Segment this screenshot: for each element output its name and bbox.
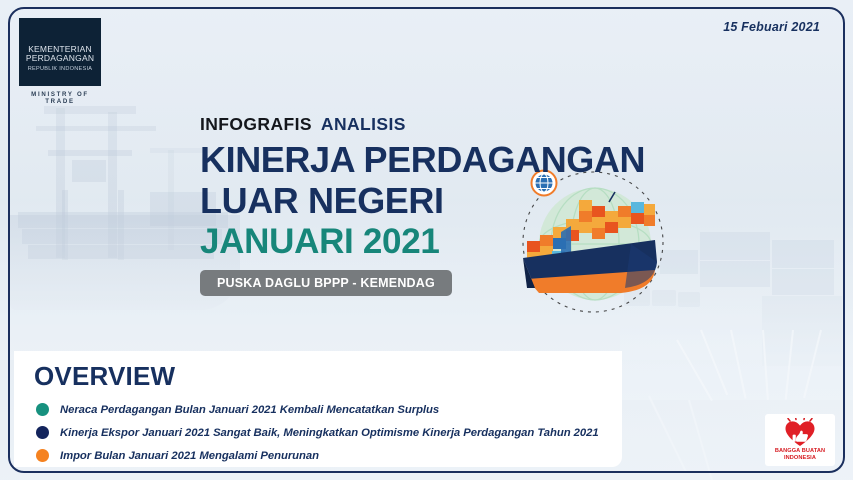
bbi-line-1: BANGGA BUATAN bbox=[775, 448, 825, 455]
overview-item-2-text: Kinerja Ekspor Januari 2021 Sangat Baik,… bbox=[60, 427, 599, 439]
overview-item-1-text: Neraca Perdagangan Bulan Januari 2021 Ke… bbox=[60, 404, 439, 416]
bullet-dot-orange bbox=[36, 449, 49, 462]
title-kicker-analisis: ANALISIS bbox=[321, 114, 406, 134]
publication-date: 15 Febuari 2021 bbox=[723, 20, 820, 34]
bangga-buatan-indonesia-badge: BANGGA BUATAN INDONESIA bbox=[765, 414, 835, 466]
title-line-2: LUAR NEGERI bbox=[200, 180, 645, 221]
overview-panel: OVERVIEW Neraca Perdagangan Bulan Januar… bbox=[14, 351, 622, 467]
title-kicker-infografis: INFOGRAFIS bbox=[200, 114, 312, 134]
bbi-line-2: INDONESIA bbox=[784, 455, 816, 462]
title-line-3: JANUARI 2021 bbox=[200, 221, 645, 263]
department-badge: PUSKA DAGLU BPPP - KEMENDAG bbox=[200, 270, 452, 296]
heart-thumbs-up-icon bbox=[783, 418, 817, 448]
heart-spark-lines bbox=[788, 418, 812, 421]
overview-heading: OVERVIEW bbox=[34, 361, 175, 392]
title-kicker: INFOGRAFISANALISIS bbox=[200, 114, 645, 134]
bullet-dot-teal bbox=[36, 403, 49, 416]
title-block: INFOGRAFISANALISIS KINERJA PERDAGANGAN L… bbox=[200, 114, 645, 296]
overview-list: Neraca Perdagangan Bulan Januari 2021 Ke… bbox=[36, 398, 611, 467]
ministry-logo-line3: REPUBLIK INDONESIA bbox=[28, 66, 93, 72]
ministry-logo-line2: PERDAGANGAN bbox=[26, 54, 94, 64]
thumbs-up-wrist bbox=[793, 435, 796, 442]
bullet-dot-navy bbox=[36, 426, 49, 439]
overview-item-3-text: Impor Bulan Januari 2021 Mengalami Penur… bbox=[60, 450, 319, 462]
ministry-logo-box: KEMENTERIAN PERDAGANGAN REPUBLIK INDONES… bbox=[19, 18, 101, 86]
overview-item-2: Kinerja Ekspor Januari 2021 Sangat Baik,… bbox=[36, 421, 611, 444]
overview-item-3: Impor Bulan Januari 2021 Mengalami Penur… bbox=[36, 444, 611, 467]
infographic-slide: KEMENTERIAN PERDAGANGAN REPUBLIK INDONES… bbox=[0, 0, 853, 480]
ministry-logo: KEMENTERIAN PERDAGANGAN REPUBLIK INDONES… bbox=[19, 18, 101, 105]
title-line-1: KINERJA PERDAGANGAN bbox=[200, 139, 645, 180]
overview-item-1: Neraca Perdagangan Bulan Januari 2021 Ke… bbox=[36, 398, 611, 421]
ministry-logo-subtitle: MINISTRY OF TRADE bbox=[19, 91, 101, 105]
